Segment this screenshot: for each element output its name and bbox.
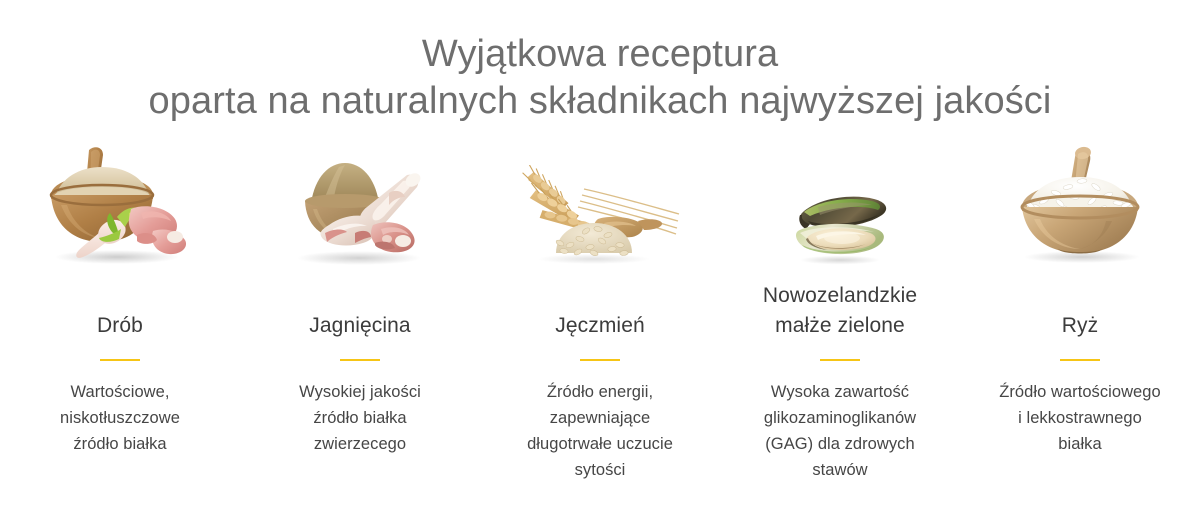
divider-zone (720, 341, 960, 379)
ingredients-section: Wyjątkowa receptura oparta na naturalnyc… (0, 0, 1200, 520)
accent-divider (820, 359, 860, 361)
description-line: glikozaminoglikanów (735, 405, 945, 431)
ingredient-image-zone (720, 128, 960, 265)
page-title-line-2: oparta na naturalnych składnikach najwyż… (0, 78, 1200, 125)
ingredient-list: Drób Wartościowe, niskotłuszczowe źródło… (0, 128, 1200, 520)
divider-zone (480, 341, 720, 379)
accent-divider (1060, 359, 1100, 361)
ingredient-description: Wysoka zawartość glikozaminoglikanów (GA… (735, 379, 945, 483)
ingredient-name: Jagnięcina (240, 311, 480, 341)
ingredient-description: Wysokiej jakości źródło białka zwierzece… (255, 379, 465, 457)
ingredient-description: Źródło energii, zapewniające długotrwałe… (495, 379, 705, 483)
page-title: Wyjątkowa receptura oparta na naturalnyc… (0, 31, 1200, 125)
ingredient-name: Drób (0, 311, 240, 341)
ingredient-image-zone (480, 128, 720, 265)
ingredient-name-zone: Drób (0, 265, 240, 341)
description-line: białka (975, 431, 1185, 457)
ingredient-card-poultry: Drób Wartościowe, niskotłuszczowe źródło… (0, 128, 240, 520)
accent-divider (340, 359, 380, 361)
ingredient-name-zone: Nowozelandzkie małże zielone (720, 265, 960, 341)
description-line: źródło białka (15, 431, 225, 457)
barley-ears-with-scoop-of-grain-icon (520, 165, 680, 265)
description-line: Wysokiej jakości (255, 379, 465, 405)
ingredient-name-line: Nowozelandzkie (720, 281, 960, 311)
description-line: zapewniające (495, 405, 705, 431)
ingredient-image-zone (240, 128, 480, 265)
ingredient-card-lamb: Jagnięcina Wysokiej jakości źródło białk… (240, 128, 480, 520)
description-line: Wartościowe, (15, 379, 225, 405)
accent-divider (580, 359, 620, 361)
ingredient-card-green-lipped-mussel: Nowozelandzkie małże zielone Wysoka zawa… (720, 128, 960, 520)
description-line: źródło białka (255, 405, 465, 431)
open-green-lipped-mussel-icon (788, 193, 892, 265)
description-line: zwierzecego (255, 431, 465, 457)
ingredient-name-zone: Jagnięcina (240, 265, 480, 341)
description-line: stawów (735, 457, 945, 483)
ingredient-name-zone: Jęczmień (480, 265, 720, 341)
divider-zone (960, 341, 1200, 379)
ingredient-name: Ryż (960, 311, 1200, 341)
accent-divider (100, 359, 140, 361)
ingredient-description: Wartościowe, niskotłuszczowe źródło biał… (15, 379, 225, 457)
divider-zone (0, 341, 240, 379)
ingredient-image-zone (0, 128, 240, 265)
description-line: (GAG) dla zdrowych (735, 431, 945, 457)
description-line: niskotłuszczowe (15, 405, 225, 431)
wooden-bowl-of-rice-with-scoop-icon (1010, 145, 1150, 265)
ingredient-card-barley: Jęczmień Źródło energii, zapewniające dł… (480, 128, 720, 520)
ingredient-name-line: małże zielone (720, 311, 960, 341)
description-line: i lekkostrawnego (975, 405, 1185, 431)
ingredient-name: Jęczmień (480, 311, 720, 341)
description-line: sytości (495, 457, 705, 483)
bowl-of-poultry-meal-with-raw-chicken-icon (45, 143, 195, 265)
ingredient-card-rice: Ryż Źródło wartościowego i lekkostrawneg… (960, 128, 1200, 520)
divider-zone (240, 341, 480, 379)
page-title-line-1: Wyjątkowa receptura (0, 31, 1200, 78)
ingredient-description: Źródło wartościowego i lekkostrawnego bi… (975, 379, 1185, 457)
description-line: Źródło energii, (495, 379, 705, 405)
bowl-of-lamb-meal-with-raw-lamb-icon (289, 153, 431, 265)
ingredient-name-zone: Ryż (960, 265, 1200, 341)
ingredient-image-zone (960, 128, 1200, 265)
ingredient-name: Nowozelandzkie małże zielone (720, 281, 960, 341)
description-line: długotrwałe uczucie (495, 431, 705, 457)
description-line: Źródło wartościowego (975, 379, 1185, 405)
description-line: Wysoka zawartość (735, 379, 945, 405)
